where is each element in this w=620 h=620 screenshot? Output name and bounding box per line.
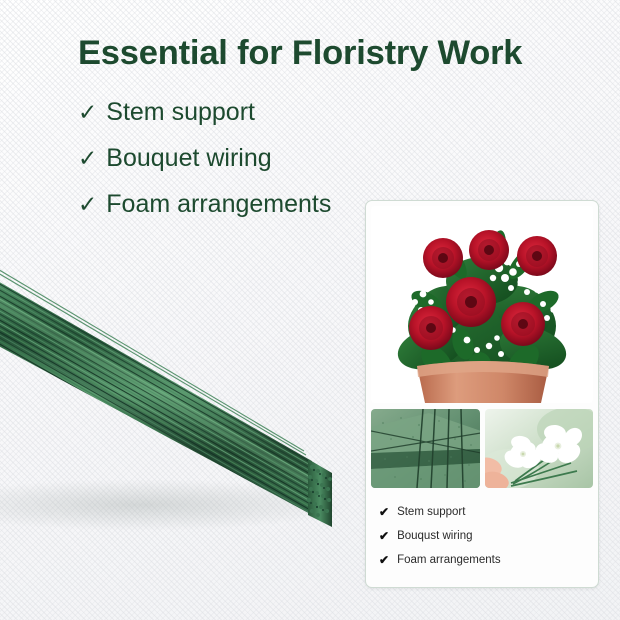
card-benefit-label: Foam arrangements	[397, 548, 501, 572]
check-icon: ✔	[379, 500, 389, 524]
card-benefit-list: ✔ Stem support ✔ Bouqust wiring ✔ Foam a…	[366, 500, 598, 587]
check-icon: ✓	[78, 135, 97, 181]
thumbnail-row	[371, 409, 593, 488]
card-benefit-label: Bouqust wiring	[397, 524, 472, 548]
rose-bouquet-photo	[371, 206, 593, 403]
page-title: Essential for Floristry Work	[78, 31, 578, 75]
benefit-label: Bouquet wiring	[106, 135, 271, 181]
card-benefit-item-foam-arrangements: ✔ Foam arrangements	[379, 548, 598, 572]
benefit-label: Foam arrangements	[106, 181, 331, 227]
benefit-item-bouquet-wiring: ✓ Bouquet wiring	[78, 135, 578, 181]
floral-foam-thumbnail	[371, 409, 480, 488]
terracotta-pot	[417, 361, 549, 403]
floristry-usage-card: ✔ Stem support ✔ Bouqust wiring ✔ Foam a…	[365, 200, 599, 588]
check-icon: ✓	[78, 181, 97, 227]
benefit-label: Stem support	[106, 89, 255, 135]
benefit-list: ✓ Stem support ✓ Bouquet wiring ✓ Foam a…	[78, 89, 578, 227]
green-florist-stem-wire-bundle-image	[0, 215, 390, 555]
card-benefit-label: Stem support	[397, 500, 465, 524]
benefit-item-stem-support: ✓ Stem support	[78, 89, 578, 135]
product-infographic-page: Essential for Floristry Work ✓ Stem supp…	[0, 0, 620, 620]
check-icon: ✔	[379, 548, 389, 572]
check-icon: ✓	[78, 89, 97, 135]
check-icon: ✔	[379, 524, 389, 548]
headline-block: Essential for Floristry Work ✓ Stem supp…	[78, 31, 578, 227]
card-benefit-item-bouquet-wiring: ✔ Bouqust wiring	[379, 524, 598, 548]
benefit-item-foam-arrangements: ✓ Foam arrangements	[78, 181, 578, 227]
card-benefit-item-stem-support: ✔ Stem support	[379, 500, 598, 524]
jasmine-flowers-thumbnail	[485, 409, 594, 488]
